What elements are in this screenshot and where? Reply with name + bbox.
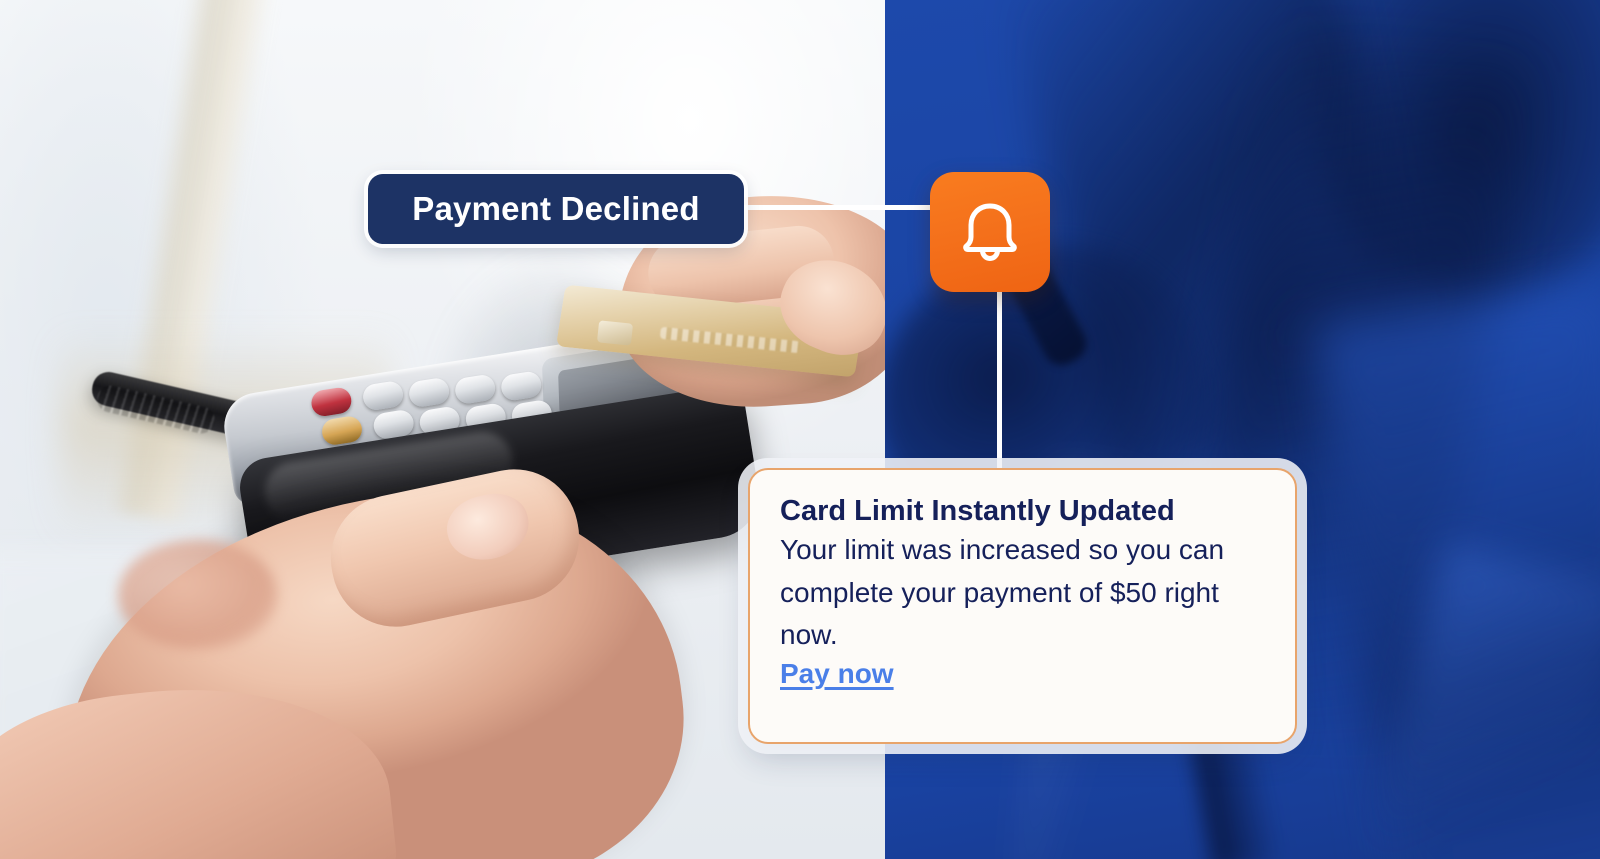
keypad-key: [361, 380, 405, 412]
payment-declined-badge: Payment Declined: [368, 174, 744, 244]
keypad-key: [499, 370, 543, 402]
notification-title: Card Limit Instantly Updated: [780, 496, 1265, 527]
notification-body: Your limit was increased so you can comp…: [780, 529, 1265, 657]
keypad-key-cancel: [310, 386, 354, 418]
notification-bell-tile[interactable]: [930, 172, 1050, 292]
credit-card-chip: [597, 320, 633, 345]
bell-icon: [959, 199, 1021, 265]
payment-declined-label: Payment Declined: [412, 190, 699, 228]
keypad-key: [407, 377, 451, 409]
hand-knuckle: [118, 540, 278, 650]
pay-now-link[interactable]: Pay now: [780, 658, 894, 690]
notification-card: Card Limit Instantly Updated Your limit …: [748, 468, 1297, 744]
keypad-key-clear: [320, 415, 364, 447]
keypad-key: [453, 373, 497, 405]
connector-line-horizontal: [744, 205, 936, 210]
promo-graphic: Payment Declined Card Limit Instantly Up…: [0, 0, 1600, 859]
connector-line-vertical: [997, 288, 1002, 478]
